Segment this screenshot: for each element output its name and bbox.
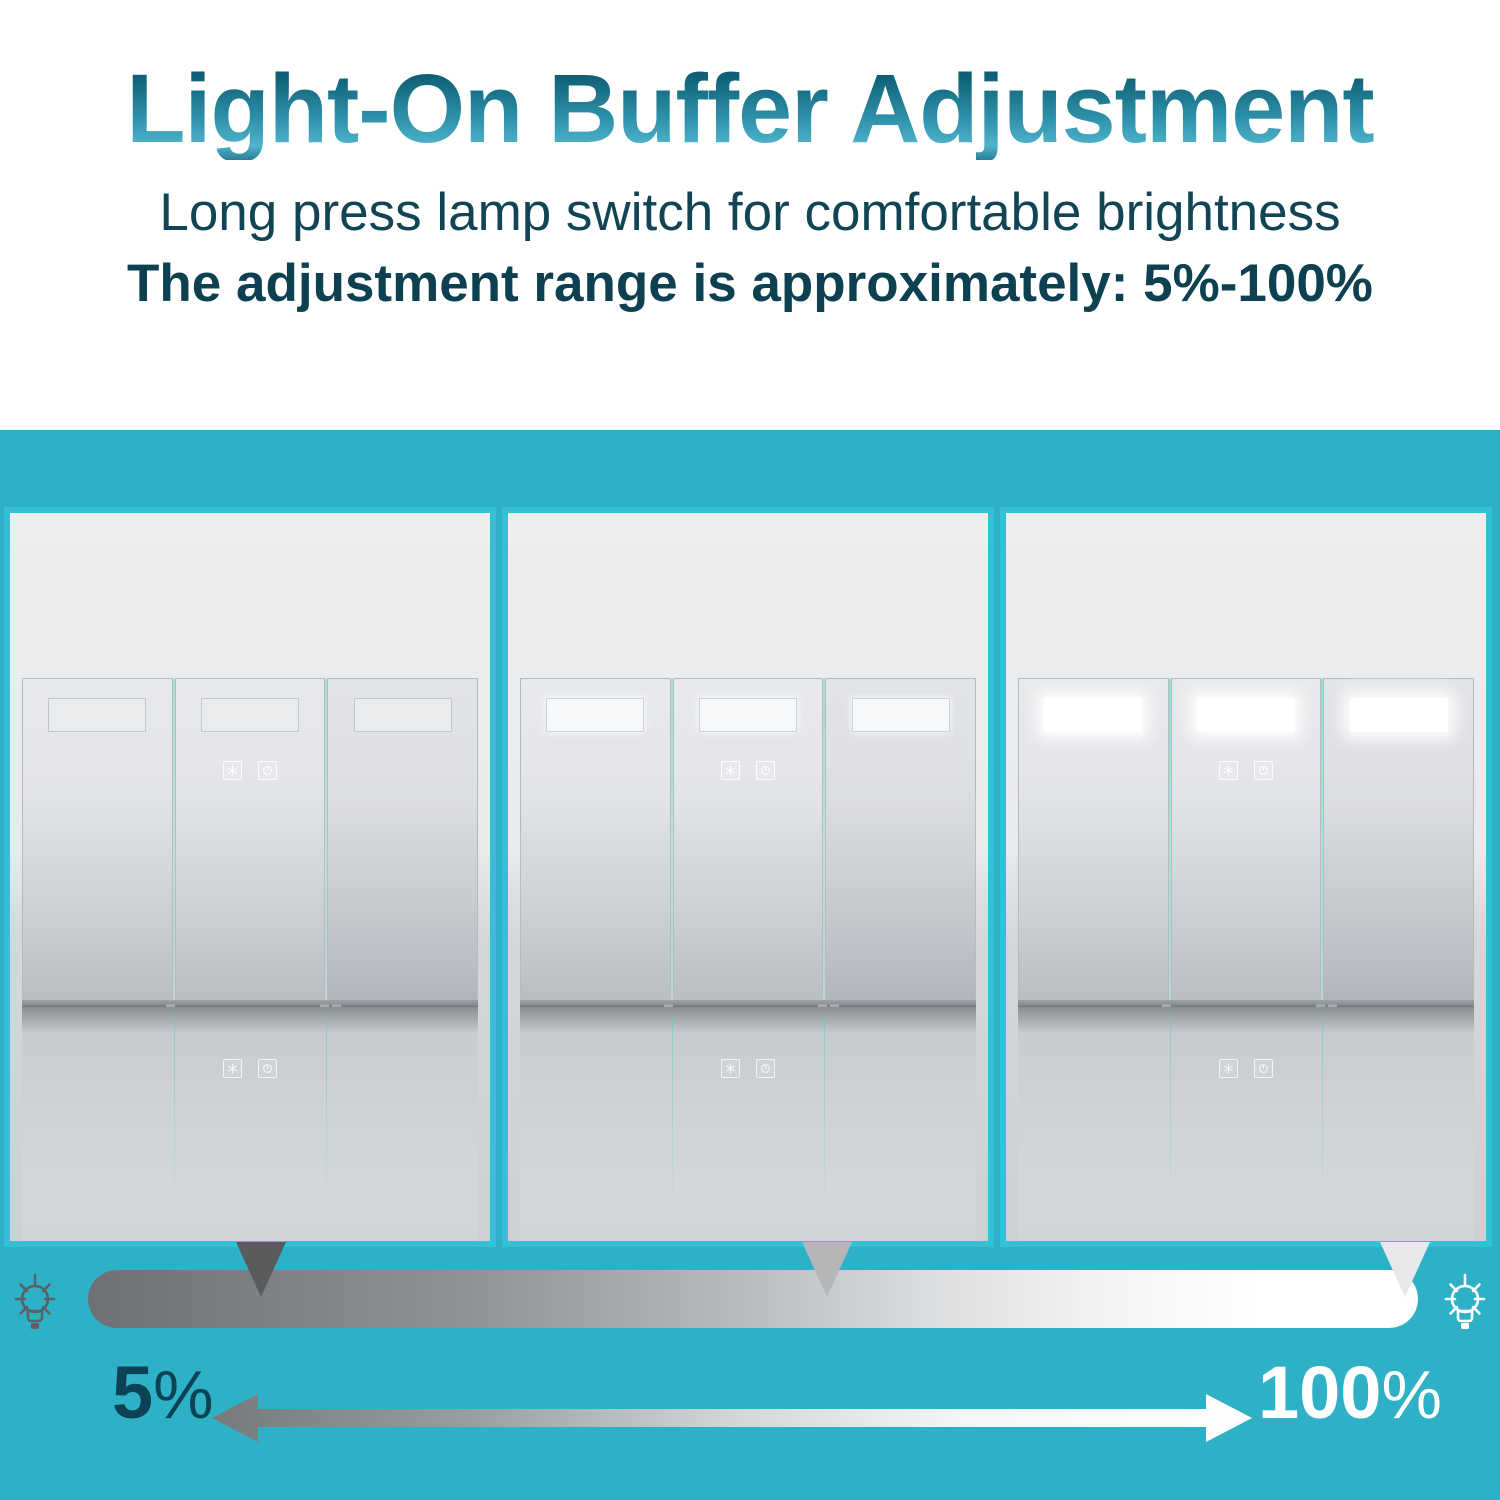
touch-control-group [721, 761, 775, 780]
max-percent-symbol: % [1381, 1357, 1441, 1433]
product-showcase-stage: 5% 100% [0, 430, 1500, 1500]
touch-control-group [1219, 761, 1273, 780]
led-strip-icon [201, 698, 299, 732]
cabinet-door-center[interactable] [1171, 678, 1322, 1003]
defog-icon[interactable] [223, 761, 242, 780]
led-strip-icon [48, 698, 146, 732]
reflected-touch-controls [223, 1059, 277, 1078]
cabinet-door-center[interactable] [673, 678, 824, 1003]
defog-icon[interactable] [721, 761, 740, 780]
defog-icon-reflected [721, 1059, 740, 1078]
power-icon-reflected [756, 1059, 775, 1078]
range-double-arrow-icon [212, 1388, 1252, 1448]
door-seam [1321, 679, 1323, 1003]
cabinet-door-left[interactable] [1018, 678, 1169, 1003]
power-icon-reflected [258, 1059, 277, 1078]
power-icon[interactable] [258, 761, 277, 780]
cabinet-door-right[interactable] [1323, 678, 1474, 1003]
subtitle-line-1: Long press lamp switch for comfortable b… [159, 182, 1340, 243]
reflection-seam [174, 1017, 175, 1207]
cabinet-bottom-edge [22, 1000, 478, 1007]
reflected-touch-controls [1219, 1059, 1273, 1078]
cabinet-door-right[interactable] [825, 678, 976, 1003]
door-seam [1169, 679, 1171, 1003]
panel-brightness-high [1006, 513, 1486, 1241]
max-percent-value: 100 [1258, 1351, 1381, 1434]
bright-bulb-icon [1438, 1261, 1492, 1337]
brightness-slider[interactable]: 5% 100% [0, 1260, 1500, 1500]
defog-icon-reflected [1219, 1059, 1238, 1078]
cabinet-bottom-edge [1018, 1000, 1474, 1007]
led-strip-icon [1350, 698, 1448, 732]
medicine-cabinet-mid [520, 678, 976, 1003]
medicine-cabinet-high [1018, 678, 1474, 1003]
led-strip-icon [852, 698, 950, 732]
min-percent-label: 5% [112, 1356, 214, 1430]
cabinet-door-left[interactable] [22, 678, 173, 1003]
countertop-reflection [1018, 1007, 1474, 1241]
door-seam [173, 679, 175, 1003]
marker-high[interactable] [1380, 1242, 1430, 1297]
panel-brightness-mid [508, 513, 988, 1241]
reflection-seam [1322, 1017, 1323, 1207]
marker-low[interactable] [236, 1242, 286, 1297]
reflection-seam [1170, 1017, 1171, 1207]
led-strip-icon [1044, 698, 1142, 732]
subtitle-line-2: The adjustment range is approximately: 5… [127, 253, 1373, 314]
countertop-reflection [22, 1007, 478, 1241]
defog-icon-reflected [223, 1059, 242, 1078]
cabinet-door-center[interactable] [175, 678, 326, 1003]
led-strip-icon [546, 698, 644, 732]
led-strip-icon [699, 698, 797, 732]
panel-brightness-low [10, 513, 490, 1241]
power-icon[interactable] [1254, 761, 1273, 780]
reflection-seam [326, 1017, 327, 1207]
power-icon-reflected [1254, 1059, 1273, 1078]
reflection-seam [824, 1017, 825, 1207]
medicine-cabinet-low [22, 678, 478, 1003]
cabinet-door-left[interactable] [520, 678, 671, 1003]
defog-icon[interactable] [1219, 761, 1238, 780]
countertop-reflection [520, 1007, 976, 1241]
reflection-seam [672, 1017, 673, 1207]
slider-track[interactable] [88, 1270, 1418, 1328]
door-seam [671, 679, 673, 1003]
led-strip-icon [1197, 698, 1295, 732]
power-icon[interactable] [756, 761, 775, 780]
marker-mid[interactable] [802, 1242, 852, 1297]
page-title: Light-On Buffer Adjustment [126, 58, 1373, 160]
cabinet-door-right[interactable] [327, 678, 478, 1003]
door-seam [823, 679, 825, 1003]
header-section: Light-On Buffer Adjustment Long press la… [0, 0, 1500, 430]
led-strip-icon [354, 698, 452, 732]
reflected-touch-controls [721, 1059, 775, 1078]
dim-bulb-icon [8, 1261, 62, 1337]
brightness-panels-row [0, 513, 1500, 1241]
max-percent-label: 100% [1258, 1356, 1442, 1430]
cabinet-bottom-edge [520, 1000, 976, 1007]
min-percent-symbol: % [153, 1357, 213, 1433]
touch-control-group [223, 761, 277, 780]
door-seam [325, 679, 327, 1003]
min-percent-value: 5 [112, 1351, 153, 1434]
